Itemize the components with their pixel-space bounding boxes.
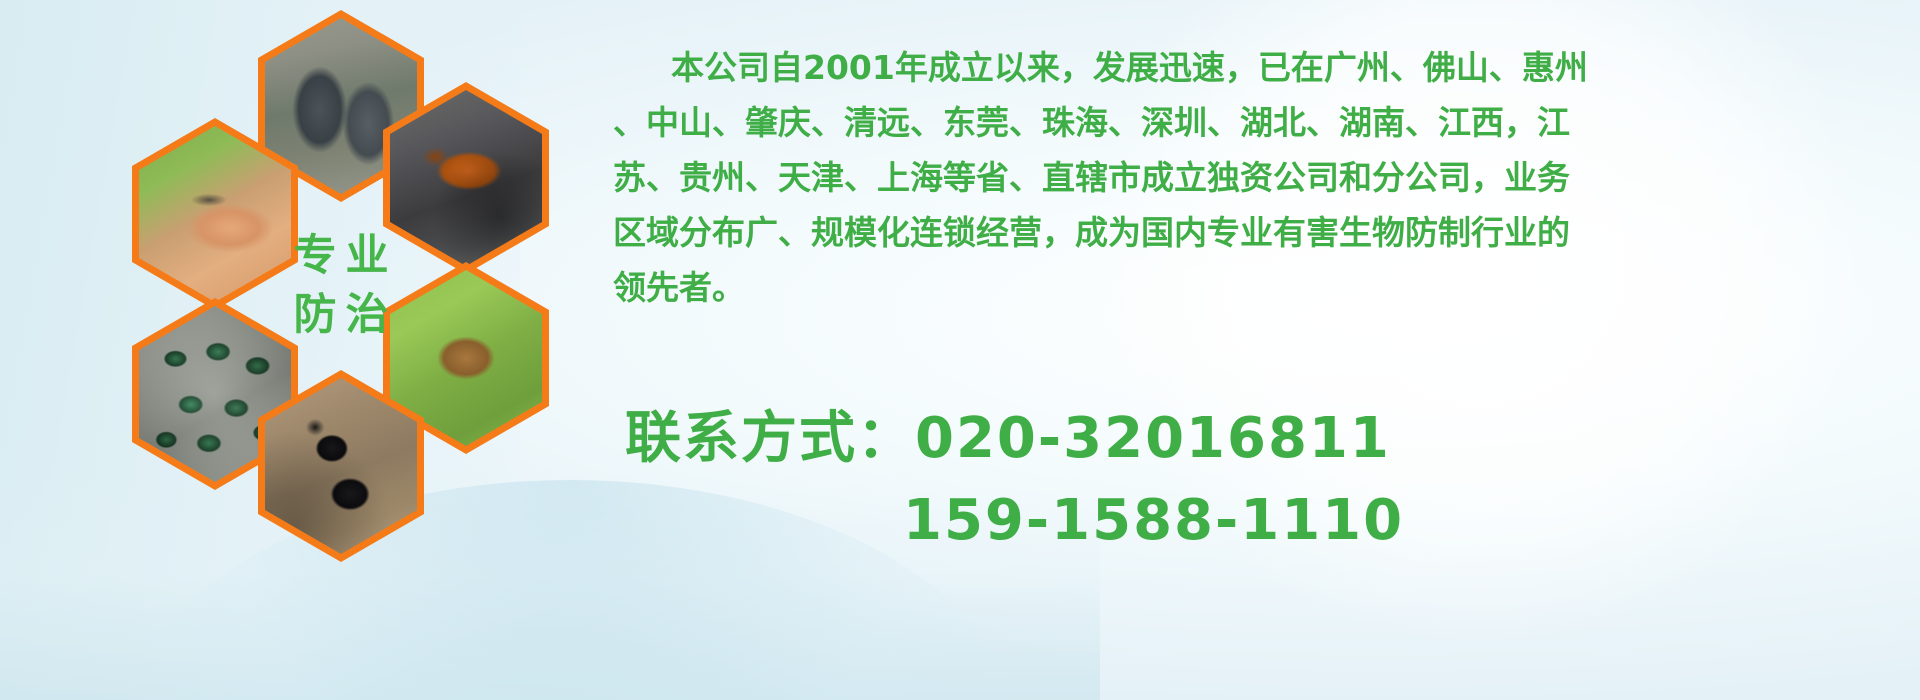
slogan-line-1: 专业	[285, 235, 398, 278]
contact-secondary-line: 159-1588-1110	[625, 480, 1915, 562]
description-line-1: 本公司自2001年成立以来，发展迅速，已在广州、佛山、惠州	[613, 40, 1913, 95]
contact-block: 联系方式：020-32016811 159-1588-1110	[625, 398, 1915, 562]
slogan-text: 专业 防治	[258, 190, 424, 382]
company-description: 本公司自2001年成立以来，发展迅速，已在广州、佛山、惠州 、中山、肇庆、清远、…	[613, 40, 1913, 315]
hex-inner-ant	[265, 378, 417, 554]
hexagon-photo-cluster: 专业 防治	[88, 6, 588, 566]
contact-label: 联系方式：	[625, 406, 915, 471]
description-line-5: 领先者。	[613, 260, 1913, 315]
promo-banner: 专业 防治 本公司自2001年成立以来，发展迅速，已在广州、佛山、惠州 、中山、…	[0, 0, 1920, 700]
hex-tile-slogan: 专业 防治	[258, 190, 424, 382]
description-line-2: 、中山、肇庆、清远、东莞、珠海、深圳、湖北、湖南、江西，江	[613, 95, 1913, 150]
description-line-3: 苏、贵州、天津、上海等省、直辖市成立独资公司和分公司，业务	[613, 150, 1913, 205]
contact-phone-landline[interactable]: 020-32016811	[915, 406, 1391, 471]
description-line-4: 区域分布广、规模化连锁经营，成为国内专业有害生物防制行业的	[613, 205, 1913, 260]
contact-primary-line: 联系方式：020-32016811	[625, 398, 1915, 480]
contact-phone-mobile[interactable]: 159-1588-1110	[903, 488, 1404, 553]
ant-photo	[265, 378, 417, 554]
slogan-line-2: 防治	[285, 294, 398, 337]
